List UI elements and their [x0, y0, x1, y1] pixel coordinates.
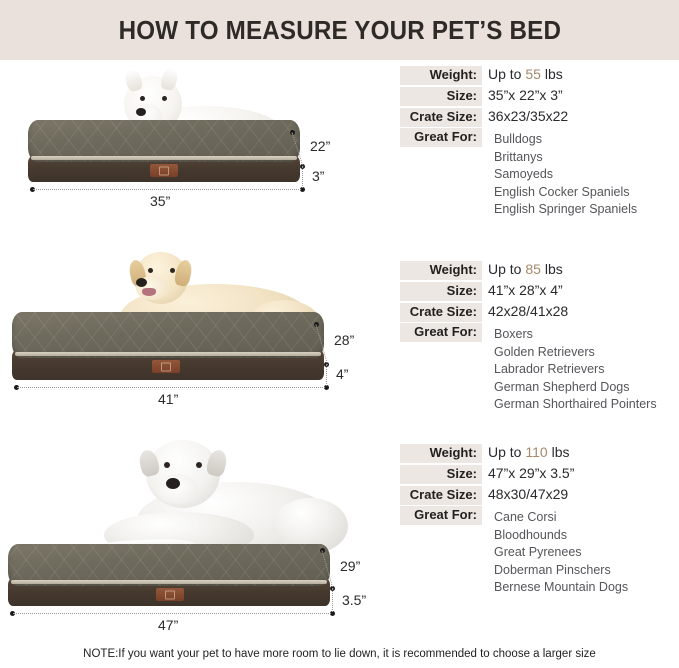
- spec-value-weight: Up to 110 lbs: [482, 443, 569, 461]
- spec-row-weight: Weight: Up to 55 lbs: [400, 65, 679, 85]
- spec-table-large: Weight: Up to 110 lbs Size: 47”x 29”x 3.…: [400, 443, 679, 597]
- product-row-small: 22” 3” 35” Weight: Up to 55 lbs Size: 35…: [0, 60, 679, 250]
- breed-item: German Shorthaired Pointers: [494, 396, 679, 414]
- spec-table-small: Weight: Up to 55 lbs Size: 35”x 22”x 3” …: [400, 65, 679, 219]
- spec-value-crate-size: 36x23/35x22: [482, 107, 568, 125]
- bed-piping: [11, 580, 327, 584]
- breed-item: Bloodhounds: [494, 527, 679, 545]
- header-band: HOW TO MEASURE YOUR PET’S BED: [0, 0, 679, 60]
- spec-label-weight: Weight:: [400, 444, 482, 463]
- brand-logo-patch: [150, 164, 178, 177]
- spec-label-great-for: Great For:: [400, 506, 482, 525]
- breed-list-medium: Boxers Golden Retrievers Labrador Retrie…: [488, 326, 679, 414]
- spec-row-crate-size: Crate Size: 42x28/41x28: [400, 302, 679, 322]
- spec-row-size: Size: 35”x 22”x 3”: [400, 86, 679, 106]
- bed-illustration-small: 22” 3” 35”: [0, 60, 400, 250]
- weight-value: 55: [525, 66, 541, 82]
- dim-line-height: [332, 588, 333, 612]
- spec-value-weight: Up to 55 lbs: [482, 65, 563, 83]
- spec-value-size: 47”x 29”x 3.5”: [482, 464, 574, 482]
- bed-small: [28, 120, 300, 182]
- bed-illustration-large: 29” 3.5” 47”: [0, 440, 400, 645]
- dim-label-height: 3”: [312, 168, 324, 184]
- spec-label-size: Size:: [400, 282, 482, 301]
- dim-line-width: [17, 387, 325, 388]
- spec-label-size: Size:: [400, 87, 482, 106]
- spec-label-crate-size: Crate Size:: [400, 486, 482, 505]
- breed-item: Great Pyrenees: [494, 544, 679, 562]
- spec-row-size: Size: 47”x 29”x 3.5”: [400, 464, 679, 484]
- spec-label-great-for: Great For:: [400, 128, 482, 147]
- breed-item: English Cocker Spaniels: [494, 184, 679, 202]
- spec-row-size: Size: 41”x 28”x 4”: [400, 281, 679, 301]
- spec-table-medium: Weight: Up to 85 lbs Size: 41”x 28”x 4” …: [400, 260, 679, 414]
- page-title: HOW TO MEASURE YOUR PET’S BED: [118, 15, 560, 46]
- dim-label-width: 35”: [150, 193, 170, 209]
- dim-line-width: [33, 189, 301, 190]
- spec-label-crate-size: Crate Size:: [400, 108, 482, 127]
- dim-label-height: 3.5”: [342, 592, 366, 608]
- spec-value-size: 41”x 28”x 4”: [482, 281, 563, 299]
- weight-suffix: lbs: [541, 66, 563, 82]
- breed-item: Cane Corsi: [494, 509, 679, 527]
- dim-label-width: 47”: [158, 617, 178, 633]
- bed-illustration-medium: 28” 4” 41”: [0, 250, 400, 440]
- spec-row-weight: Weight: Up to 110 lbs: [400, 443, 679, 463]
- spec-label-weight: Weight:: [400, 66, 482, 85]
- breed-item: Samoyeds: [494, 166, 679, 184]
- brand-logo-patch: [156, 588, 184, 601]
- weight-prefix: Up to: [488, 261, 525, 277]
- bed-piping: [15, 352, 321, 356]
- bed-medium: [12, 312, 324, 380]
- breed-item: Brittanys: [494, 149, 679, 167]
- dog-head: [146, 440, 220, 508]
- product-row-medium: 28” 4” 41” Weight: Up to 85 lbs Size: 41…: [0, 250, 679, 440]
- spec-label-great-for: Great For:: [400, 323, 482, 342]
- breed-item: Labrador Retrievers: [494, 361, 679, 379]
- spec-row-crate-size: Crate Size: 36x23/35x22: [400, 107, 679, 127]
- breed-item: Golden Retrievers: [494, 344, 679, 362]
- breed-list-large: Cane Corsi Bloodhounds Great Pyrenees Do…: [488, 509, 679, 597]
- spec-label-weight: Weight:: [400, 261, 482, 280]
- dim-label-depth: 22”: [310, 138, 330, 154]
- breed-item: German Shepherd Dogs: [494, 379, 679, 397]
- dim-label-depth: 28”: [334, 332, 354, 348]
- spec-label-crate-size: Crate Size:: [400, 303, 482, 322]
- spec-row-crate-size: Crate Size: 48x30/47x29: [400, 485, 679, 505]
- spec-value-size: 35”x 22”x 3”: [482, 86, 563, 104]
- weight-value: 110: [525, 444, 547, 460]
- dim-line-width: [13, 613, 331, 614]
- dog-head: [134, 252, 188, 304]
- dim-label-depth: 29”: [340, 558, 360, 574]
- spec-row-weight: Weight: Up to 85 lbs: [400, 260, 679, 280]
- spec-value-crate-size: 48x30/47x29: [482, 485, 568, 503]
- product-row-large: 29” 3.5” 47” Weight: Up to 110 lbs Size:…: [0, 440, 679, 645]
- dog-tongue: [142, 288, 156, 296]
- spec-value-crate-size: 42x28/41x28: [482, 302, 568, 320]
- brand-logo-patch: [152, 360, 180, 373]
- spec-value-weight: Up to 85 lbs: [482, 260, 563, 278]
- weight-value: 85: [525, 261, 541, 277]
- weight-prefix: Up to: [488, 66, 525, 82]
- dim-line-height: [326, 364, 327, 386]
- breed-item: Boxers: [494, 326, 679, 344]
- weight-suffix: lbs: [541, 261, 563, 277]
- spec-label-size: Size:: [400, 465, 482, 484]
- dim-line-height: [302, 166, 303, 188]
- footer-note: NOTE:If you want your pet to have more r…: [0, 648, 679, 660]
- bed-large: [8, 544, 330, 606]
- breed-item: Doberman Pinschers: [494, 562, 679, 580]
- breed-list-small: Bulldogs Brittanys Samoyeds English Cock…: [488, 131, 679, 219]
- bed-piping: [31, 156, 298, 160]
- breed-item: Bernese Mountain Dogs: [494, 579, 679, 597]
- weight-prefix: Up to: [488, 444, 525, 460]
- dim-label-width: 41”: [158, 391, 178, 407]
- breed-item: Bulldogs: [494, 131, 679, 149]
- breed-item: English Springer Spaniels: [494, 201, 679, 219]
- dim-label-height: 4”: [336, 366, 348, 382]
- weight-suffix: lbs: [548, 444, 570, 460]
